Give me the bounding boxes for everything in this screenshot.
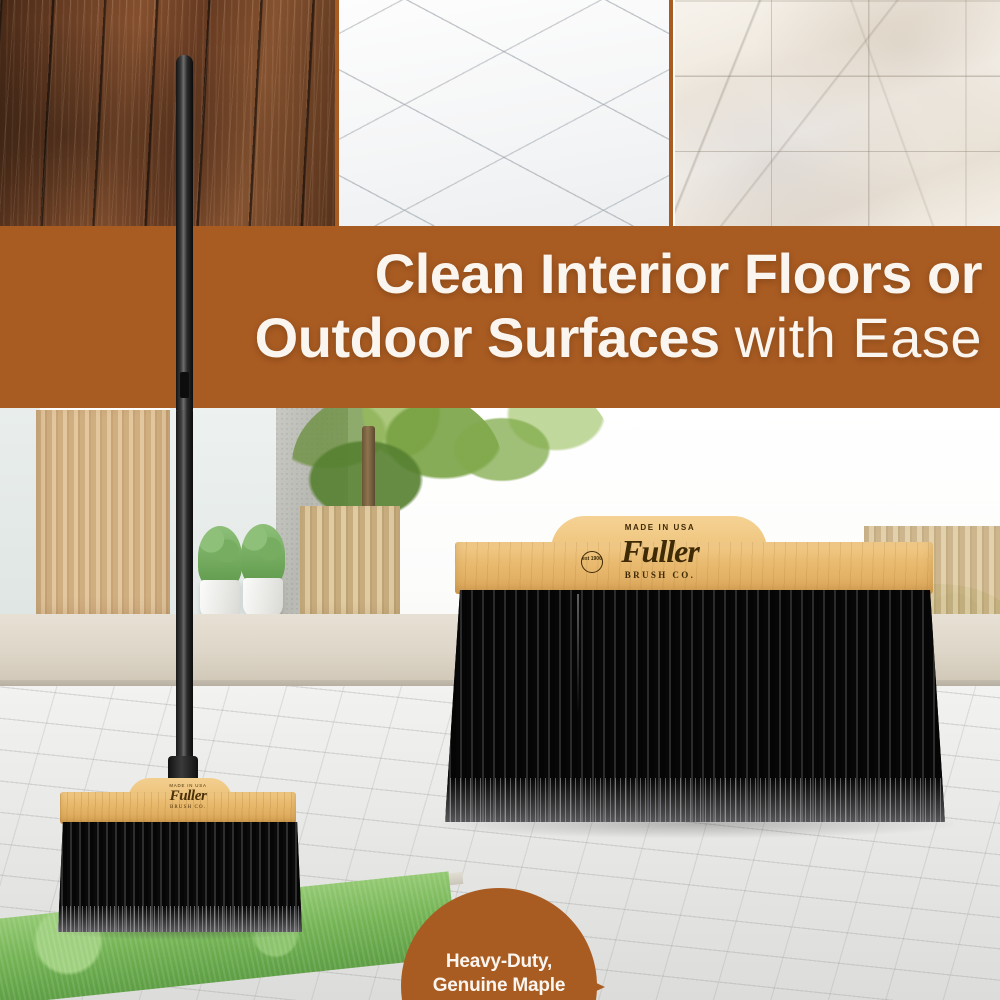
headline-banner: Clean Interior Floors or Outdoor Surface… [0, 226, 1000, 408]
logo-established-badge: est 1906 [581, 551, 603, 573]
headline-line-1: Clean Interior Floors or [0, 246, 982, 302]
broom-handle-hang-hole [180, 372, 189, 398]
broom-handle-upper [176, 55, 193, 410]
broom-bristles-large [445, 590, 945, 822]
logo-wordmark-wrap: Fuller est 1906 [565, 535, 755, 569]
feature-callout-badge: Heavy-Duty, Genuine Maple Hardwood Block [401, 888, 597, 1000]
bristle-seam [577, 594, 579, 714]
floor-sample-white-ceramic-diagonal-tile [339, 0, 669, 226]
fuller-logo-large: MADE IN USA Fuller est 1906 BRUSH CO. [565, 524, 755, 580]
floor-divider-2 [669, 0, 673, 226]
maple-block-large: MADE IN USA Fuller est 1906 BRUSH CO. [455, 516, 933, 594]
maple-block-small: MADE IN USA Fuller BRUSH CO. [60, 778, 296, 824]
logo-wordmark-small: Fuller [138, 789, 238, 804]
callout-text: Heavy-Duty, Genuine Maple Hardwood Block [401, 950, 597, 1000]
logo-brush-co-small: BRUSH CO. [138, 805, 238, 810]
headline-line-2-bold: Outdoor Surfaces [255, 306, 720, 369]
callout-circle: Heavy-Duty, Genuine Maple Hardwood Block [401, 888, 597, 1000]
headline-text-group: Clean Interior Floors or Outdoor Surface… [0, 246, 982, 366]
broom-bristles-small [58, 822, 302, 932]
logo-wordmark-large: Fuller [621, 533, 699, 569]
logo-made-in-usa-large: MADE IN USA [565, 524, 755, 532]
fuller-logo-small: MADE IN USA Fuller BRUSH CO. [138, 784, 238, 810]
headline-line-2: Outdoor Surfaces with Ease [0, 310, 982, 366]
headline-line-2-light: with Ease [735, 306, 982, 369]
floor-sample-beige-marble-tile [675, 0, 1000, 226]
broom-handle-lower [176, 408, 193, 788]
patio-scene: MADE IN USA Fuller BRUSH CO. MADE IN USA… [0, 408, 1000, 1000]
flooring-sample-strip [0, 0, 1000, 226]
product-marketing-image: Clean Interior Floors or Outdoor Surface… [0, 0, 1000, 1000]
closeup-broom-head: MADE IN USA Fuller est 1906 BRUSH CO. [455, 516, 975, 856]
full-broom-product: MADE IN USA Fuller BRUSH CO. [0, 408, 330, 1000]
floor-sample-dark-hardwood-planks [0, 0, 335, 226]
